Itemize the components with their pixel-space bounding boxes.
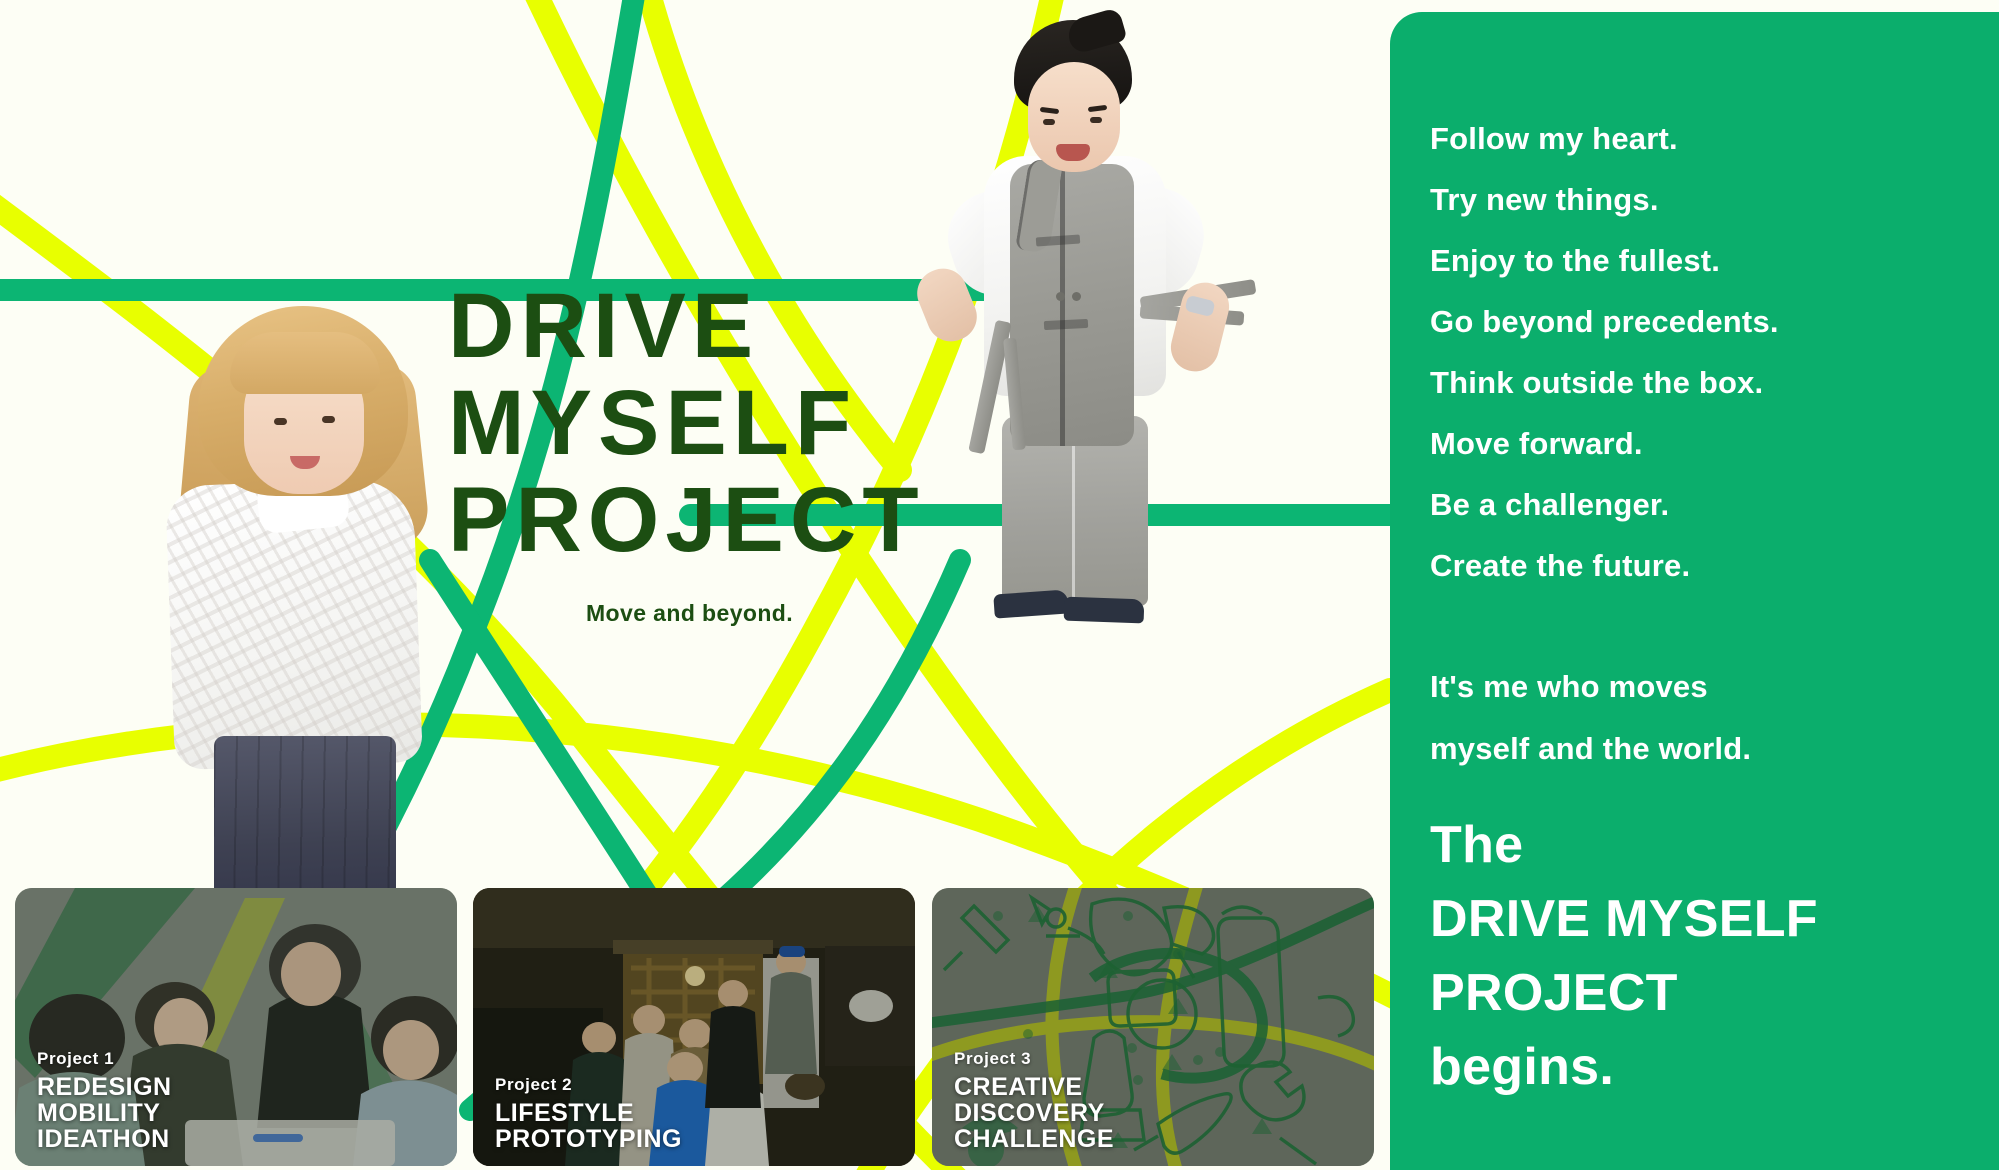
statement-8: Create the future. (1430, 535, 1999, 596)
hero-section: DRIVE MYSELF PROJECT Move and beyond. (0, 0, 1390, 1170)
statement-7: Be a challenger. (1430, 474, 1999, 535)
hero-title-line-2: MYSELF (448, 375, 1008, 472)
card-2-text: Project 2 LIFESTYLE PROTOTYPING (495, 1075, 682, 1152)
card-2-title-line-1: LIFESTYLE (495, 1100, 682, 1126)
hero-title-line-1: DRIVE (448, 278, 1008, 375)
card-1-text: Project 1 REDESIGN MOBILITY IDEATHON (37, 1049, 172, 1152)
hero-title: DRIVE MYSELF PROJECT (448, 278, 1008, 569)
woman-figure (170, 306, 440, 886)
closing-line-3: PROJECT (1430, 956, 1999, 1030)
statement-6: Move forward. (1430, 413, 1999, 474)
project-card-list: Project 1 REDESIGN MOBILITY IDEATHON (0, 888, 1390, 1170)
card-1-title-line-1: REDESIGN (37, 1074, 172, 1100)
statement-3: Enjoy to the fullest. (1430, 230, 1999, 291)
card-3-title-line-2: DISCOVERY (954, 1100, 1114, 1126)
card-1-title-line-2: MOBILITY (37, 1100, 172, 1126)
card-2-kicker: Project 2 (495, 1075, 682, 1095)
project-card-3[interactable]: Project 3 CREATIVE DISCOVERY CHALLENGE (932, 888, 1374, 1166)
hero-tagline: Move and beyond. (586, 600, 793, 627)
closing-line-2: DRIVE MYSELF (1430, 882, 1999, 956)
project-card-1[interactable]: Project 1 REDESIGN MOBILITY IDEATHON (15, 888, 457, 1166)
card-3-title-line-3: CHALLENGE (954, 1126, 1114, 1152)
card-3-text: Project 3 CREATIVE DISCOVERY CHALLENGE (954, 1049, 1114, 1152)
panel-subtext-line-2: myself and the world. (1430, 718, 1999, 780)
closing-line-1: The (1430, 808, 1999, 882)
statement-4: Go beyond precedents. (1430, 291, 1999, 352)
statement-2: Try new things. (1430, 169, 1999, 230)
card-1-title-line-3: IDEATHON (37, 1126, 172, 1152)
card-1-kicker: Project 1 (37, 1049, 172, 1069)
project-card-2[interactable]: Project 2 LIFESTYLE PROTOTYPING (473, 888, 915, 1166)
panel-subtext-line-1: It's me who moves (1430, 656, 1999, 718)
card-2-title-line-2: PROTOTYPING (495, 1126, 682, 1152)
closing-line-4: begins. (1430, 1030, 1999, 1104)
statement-panel: Follow my heart. Try new things. Enjoy t… (1390, 12, 1999, 1170)
card-3-kicker: Project 3 (954, 1049, 1114, 1069)
panel-closing: The DRIVE MYSELF PROJECT begins. (1430, 808, 1999, 1104)
statement-5: Think outside the box. (1430, 352, 1999, 413)
statement-1: Follow my heart. (1430, 108, 1999, 169)
hero-title-line-3: PROJECT (448, 472, 1008, 569)
panel-spacer (1430, 596, 1999, 656)
card-3-title-line-1: CREATIVE (954, 1074, 1114, 1100)
